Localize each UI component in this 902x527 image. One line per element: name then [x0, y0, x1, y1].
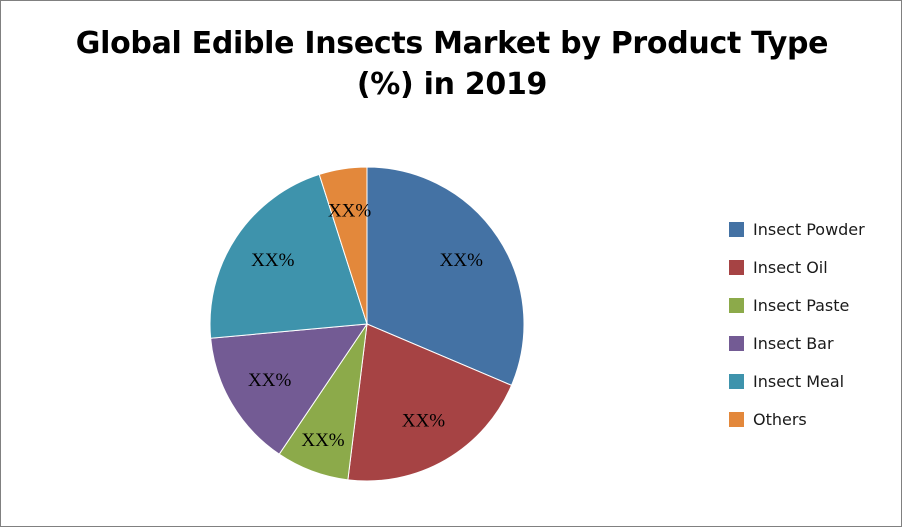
pie-slice-label: XX%: [440, 250, 483, 271]
pie-slice-label: XX%: [402, 410, 445, 431]
legend-item-label: Insect Oil: [753, 258, 828, 277]
legend-item-label: Insect Bar: [753, 334, 834, 353]
legend-item-label: Insect Paste: [753, 296, 849, 315]
legend-item-label: Insect Meal: [753, 372, 844, 391]
legend-item[interactable]: Insect Bar: [729, 324, 894, 362]
pie-slice-label: XX%: [251, 250, 294, 271]
legend-color-swatch: [729, 374, 744, 389]
pie-slice-label: XX%: [248, 370, 291, 391]
pie-slice-label: XX%: [301, 430, 344, 451]
chart-frame: Global Edible Insects Market by Product …: [0, 0, 902, 527]
legend-item[interactable]: Insect Paste: [729, 286, 894, 324]
legend-color-swatch: [729, 222, 744, 237]
legend-item-label: Others: [753, 410, 807, 429]
legend-color-swatch: [729, 260, 744, 275]
legend-color-swatch: [729, 298, 744, 313]
legend-item[interactable]: Insect Oil: [729, 248, 894, 286]
legend-item[interactable]: Others: [729, 400, 894, 438]
legend-color-swatch: [729, 336, 744, 351]
chart-legend: Insect PowderInsect OilInsect PasteInsec…: [729, 210, 894, 438]
legend-color-swatch: [729, 412, 744, 427]
legend-item-label: Insect Powder: [753, 220, 865, 239]
pie-slice-label: XX%: [328, 201, 371, 222]
legend-item[interactable]: Insect Meal: [729, 362, 894, 400]
legend-item[interactable]: Insect Powder: [729, 210, 894, 248]
